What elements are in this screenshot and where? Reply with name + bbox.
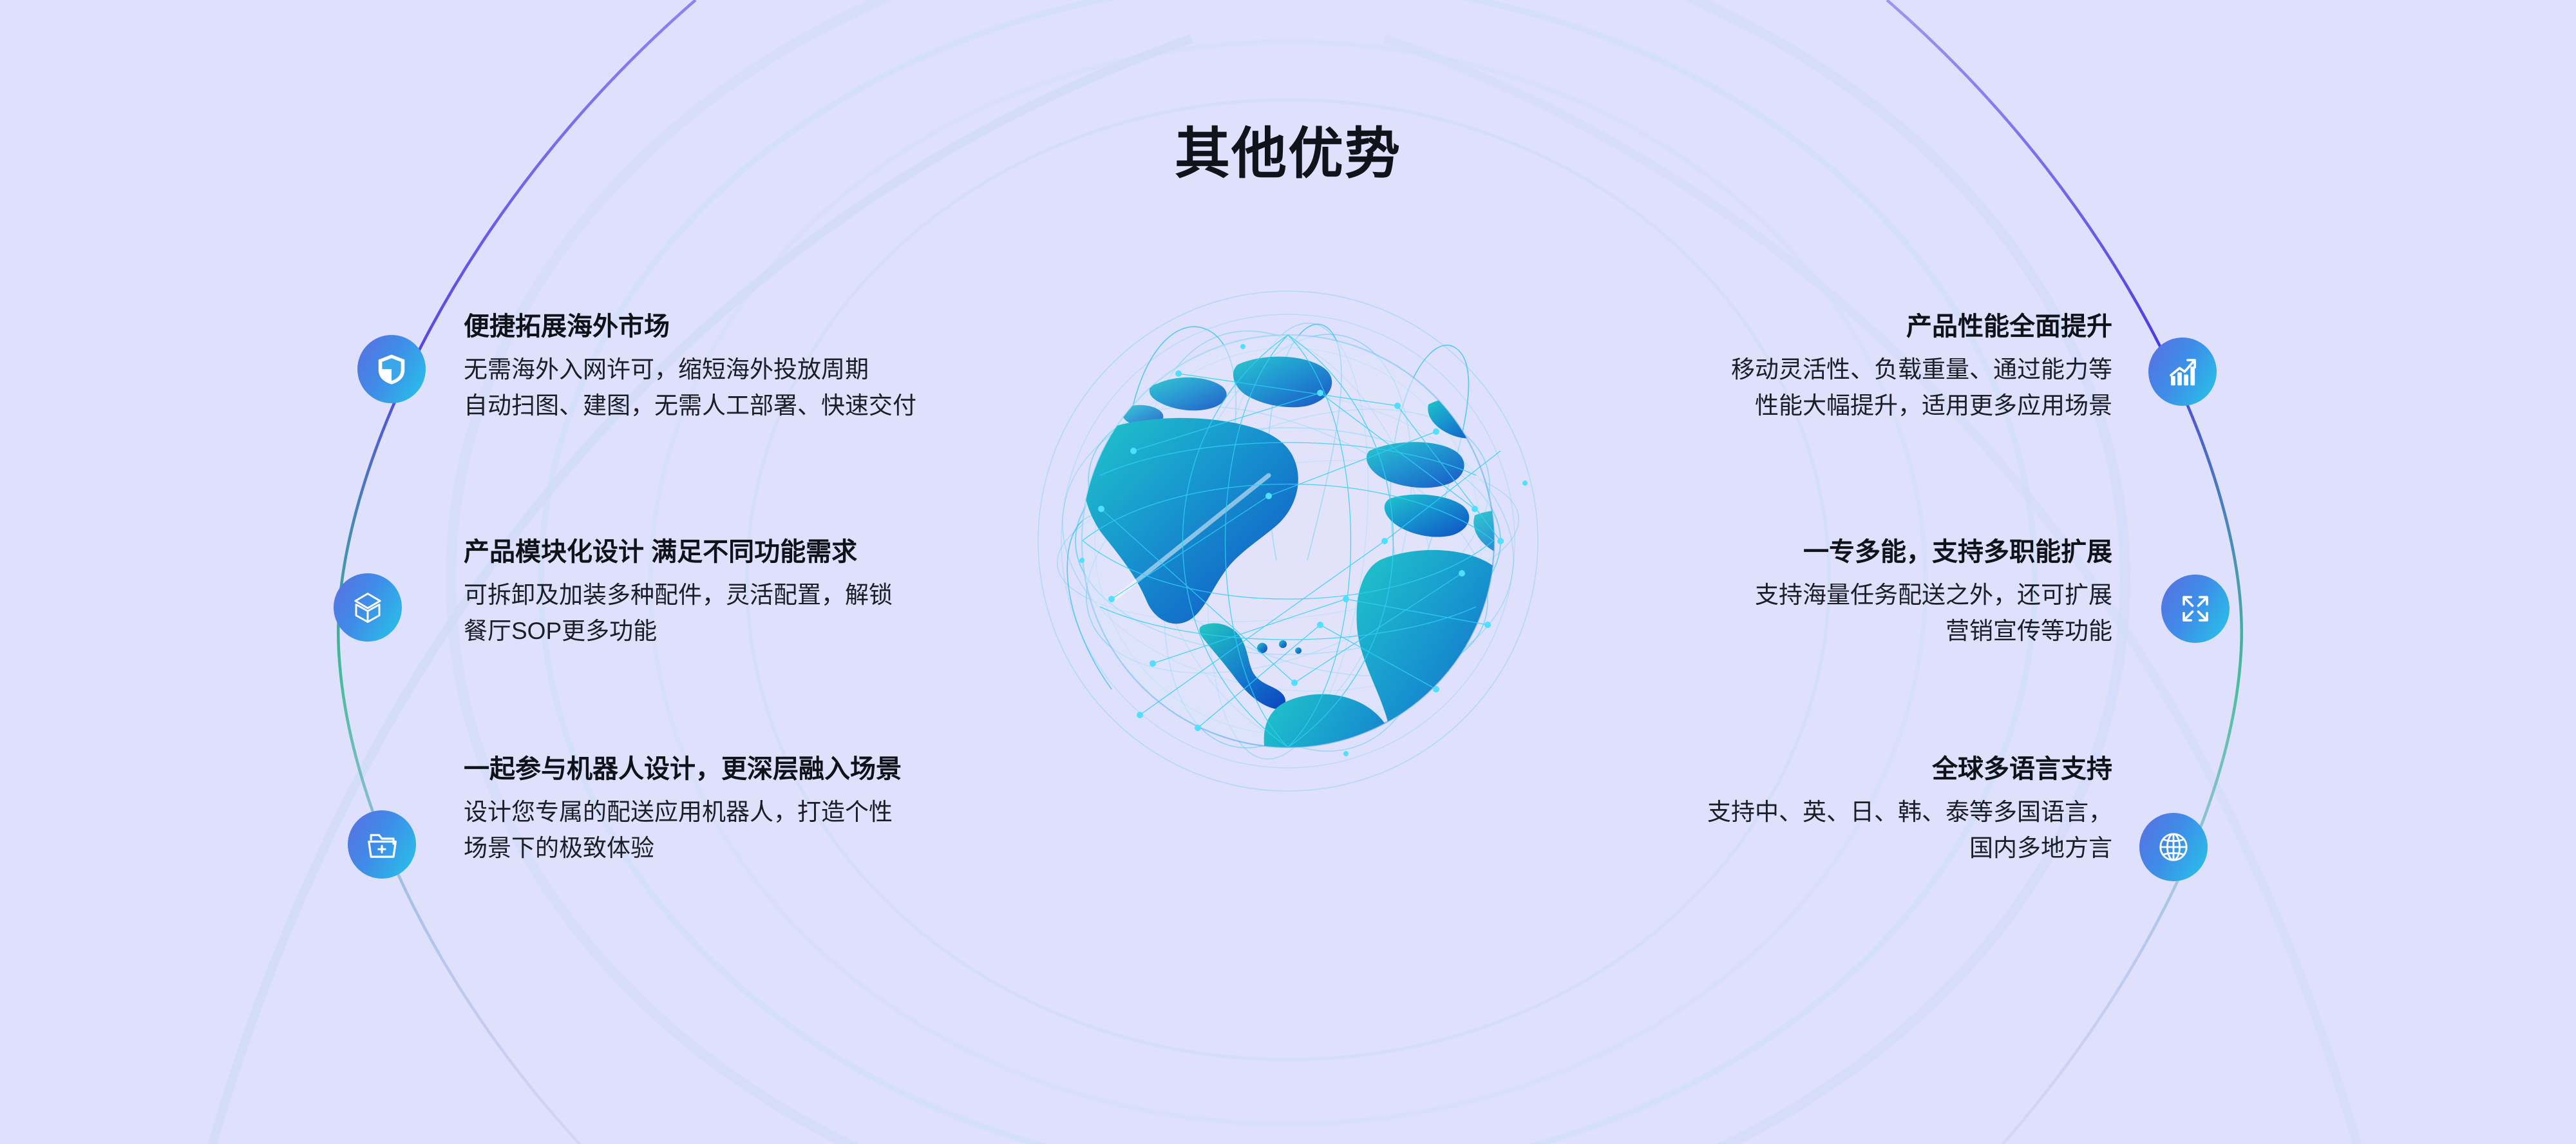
feature-title: 产品模块化设计 满足不同功能需求 xyxy=(464,535,1069,569)
right-feature-column: 产品性能全面提升 移动灵活性、负载重量、通过能力等 性能大幅提升，适用更多应用场… xyxy=(1507,309,2190,866)
shield-icon[interactable] xyxy=(357,335,426,403)
spacer xyxy=(1507,423,2190,535)
feature-line: 营销宣传等功能 xyxy=(1507,613,2112,649)
expand-arrows-icon[interactable] xyxy=(2161,575,2230,643)
feature-line: 餐厅SOP更多功能 xyxy=(464,613,1069,649)
feature-line: 场景下的极致体验 xyxy=(464,830,1069,866)
cube-icon[interactable] xyxy=(334,573,402,642)
spacer xyxy=(386,649,1069,752)
feature-line: 国内多地方言 xyxy=(1507,830,2112,866)
page-title: 其他优势 xyxy=(0,108,2576,189)
feature-line: 支持海量任务配送之外，还可扩展 xyxy=(1507,577,2112,613)
feature-title: 全球多语言支持 xyxy=(1507,752,2112,786)
feature-item: 一起参与机器人设计，更深层融入场景 设计您专属的配送应用机器人，打造个性 场景下… xyxy=(386,752,1069,866)
feature-item: 产品模块化设计 满足不同功能需求 可拆卸及加装多种配件，灵活配置，解锁 餐厅SO… xyxy=(386,535,1069,649)
feature-line: 支持中、英、日、韩、泰等多国语言， xyxy=(1507,794,2112,830)
feature-item: 一专多能，支持多职能扩展 支持海量任务配送之外，还可扩展 营销宣传等功能 xyxy=(1507,535,2190,649)
advantages-section: 其他优势 xyxy=(0,0,2576,1144)
spacer xyxy=(1507,649,2190,752)
feature-line: 性能大幅提升，适用更多应用场景 xyxy=(1507,388,2112,424)
feature-line: 设计您专属的配送应用机器人，打造个性 xyxy=(464,794,1069,830)
feature-line: 移动灵活性、负载重量、通过能力等 xyxy=(1507,352,2112,388)
globe-icon[interactable] xyxy=(2139,813,2208,881)
feature-title: 便捷拓展海外市场 xyxy=(464,309,1069,344)
feature-line: 自动扫图、建图，无需人工部署、快速交付 xyxy=(464,388,1069,424)
feature-title: 一专多能，支持多职能扩展 xyxy=(1507,535,2112,569)
spacer xyxy=(386,423,1069,535)
feature-item: 便捷拓展海外市场 无需海外入网许可，缩短海外投放周期 自动扫图、建图，无需人工部… xyxy=(386,309,1069,423)
feature-title: 一起参与机器人设计，更深层融入场景 xyxy=(464,752,1069,786)
feature-title: 产品性能全面提升 xyxy=(1507,309,2112,344)
left-feature-column: 便捷拓展海外市场 无需海外入网许可，缩短海外投放周期 自动扫图、建图，无需人工部… xyxy=(386,309,1069,866)
growth-chart-icon[interactable] xyxy=(2148,338,2217,406)
globe-network-illustration xyxy=(985,238,1591,844)
feature-item: 全球多语言支持 支持中、英、日、韩、泰等多国语言， 国内多地方言 xyxy=(1507,752,2190,866)
feature-item: 产品性能全面提升 移动灵活性、负载重量、通过能力等 性能大幅提升，适用更多应用场… xyxy=(1507,309,2190,423)
feature-line: 无需海外入网许可，缩短海外投放周期 xyxy=(464,352,1069,388)
folder-plus-icon[interactable] xyxy=(348,810,416,879)
feature-line: 可拆卸及加装多种配件，灵活配置，解锁 xyxy=(464,577,1069,613)
